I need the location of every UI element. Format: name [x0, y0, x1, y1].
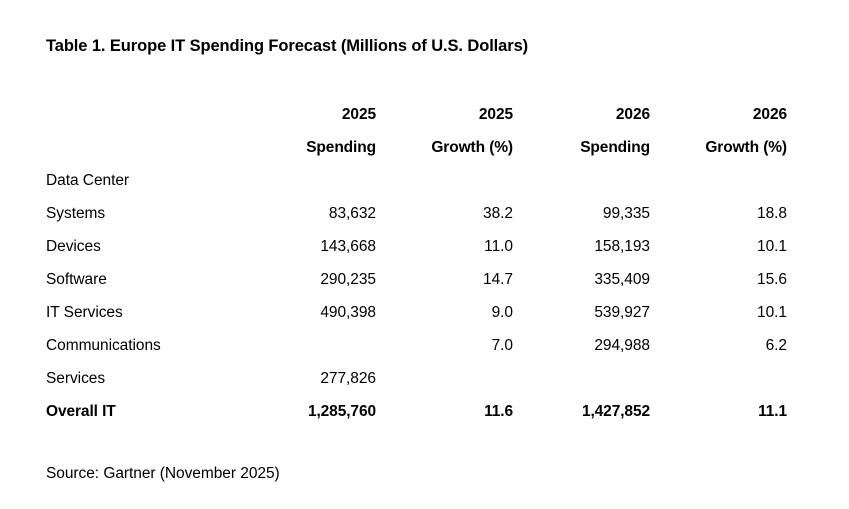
- source-note: Source: Gartner (November 2025): [46, 465, 280, 483]
- table-page: Table 1. Europe IT Spending Forecast (Mi…: [0, 0, 849, 509]
- cell-spending_2025: 290,235: [239, 263, 376, 296]
- table-row: Systems83,63238.299,33518.8: [46, 197, 787, 230]
- cell-growth_2025: 14.7: [376, 263, 513, 296]
- row-label: Services: [46, 362, 239, 395]
- cell-spending_2026: 539,927: [513, 296, 650, 329]
- cell-growth_2025: [376, 362, 513, 395]
- cell-spending_2025: [239, 164, 376, 197]
- column-header-year: 2026: [650, 98, 787, 131]
- column-header-growth-2025: 2025 Growth (%): [376, 98, 513, 164]
- cell-spending_2025: 277,826: [239, 362, 376, 395]
- cell-spending_2026: 99,335: [513, 197, 650, 230]
- table-row: IT Services490,3989.0539,92710.1: [46, 296, 787, 329]
- table-row: Software290,23514.7335,40915.6: [46, 263, 787, 296]
- cell-spending_2025: 143,668: [239, 230, 376, 263]
- cell-growth_2026: 10.1: [650, 230, 787, 263]
- table-row: Devices143,66811.0158,19310.1: [46, 230, 787, 263]
- row-label: Software: [46, 263, 239, 296]
- column-header-growth-2026: 2026 Growth (%): [650, 98, 787, 164]
- column-header-label: [46, 98, 239, 164]
- cell-growth_2026: 15.6: [650, 263, 787, 296]
- cell-spending_2025: 1,285,760: [239, 395, 376, 428]
- cell-spending_2025: 490,398: [239, 296, 376, 329]
- column-header-metric: Spending: [239, 131, 376, 164]
- cell-spending_2025: 83,632: [239, 197, 376, 230]
- column-header-spending-2025: 2025 Spending: [239, 98, 376, 164]
- column-header-metric: Growth (%): [376, 131, 513, 164]
- table-body: Data CenterSystems83,63238.299,33518.8De…: [46, 164, 787, 428]
- table-header-row: 2025 Spending 2025 Growth (%) 2026 Spend…: [46, 98, 787, 164]
- column-header-year: 2025: [239, 98, 376, 131]
- cell-growth_2025: 11.6: [376, 395, 513, 428]
- it-spending-forecast-table: 2025 Spending 2025 Growth (%) 2026 Spend…: [46, 98, 787, 428]
- page-title: Table 1. Europe IT Spending Forecast (Mi…: [46, 37, 528, 56]
- cell-growth_2026: [650, 164, 787, 197]
- cell-growth_2026: [650, 362, 787, 395]
- row-label: Overall IT: [46, 395, 239, 428]
- cell-growth_2026: 6.2: [650, 329, 787, 362]
- column-header-year: 2025: [376, 98, 513, 131]
- cell-spending_2026: [513, 362, 650, 395]
- table-row: Overall IT1,285,76011.61,427,85211.1: [46, 395, 787, 428]
- row-label: IT Services: [46, 296, 239, 329]
- cell-spending_2026: 335,409: [513, 263, 650, 296]
- table-row: Data Center: [46, 164, 787, 197]
- cell-growth_2025: [376, 164, 513, 197]
- cell-growth_2026: 11.1: [650, 395, 787, 428]
- cell-spending_2025: [239, 329, 376, 362]
- cell-growth_2025: 38.2: [376, 197, 513, 230]
- table-row: Services277,826: [46, 362, 787, 395]
- table-header: 2025 Spending 2025 Growth (%) 2026 Spend…: [46, 98, 787, 164]
- cell-growth_2026: 10.1: [650, 296, 787, 329]
- cell-growth_2025: 7.0: [376, 329, 513, 362]
- row-label: Data Center: [46, 164, 239, 197]
- cell-spending_2026: [513, 164, 650, 197]
- cell-spending_2026: 294,988: [513, 329, 650, 362]
- column-header-year: 2026: [513, 98, 650, 131]
- cell-growth_2025: 9.0: [376, 296, 513, 329]
- column-header-spending-2026: 2026 Spending: [513, 98, 650, 164]
- cell-growth_2026: 18.8: [650, 197, 787, 230]
- cell-spending_2026: 1,427,852: [513, 395, 650, 428]
- table-row: Communications7.0294,9886.2: [46, 329, 787, 362]
- row-label: Devices: [46, 230, 239, 263]
- cell-spending_2026: 158,193: [513, 230, 650, 263]
- row-label: Communications: [46, 329, 239, 362]
- column-header-metric: Growth (%): [650, 131, 787, 164]
- column-header-metric: Spending: [513, 131, 650, 164]
- cell-growth_2025: 11.0: [376, 230, 513, 263]
- row-label: Systems: [46, 197, 239, 230]
